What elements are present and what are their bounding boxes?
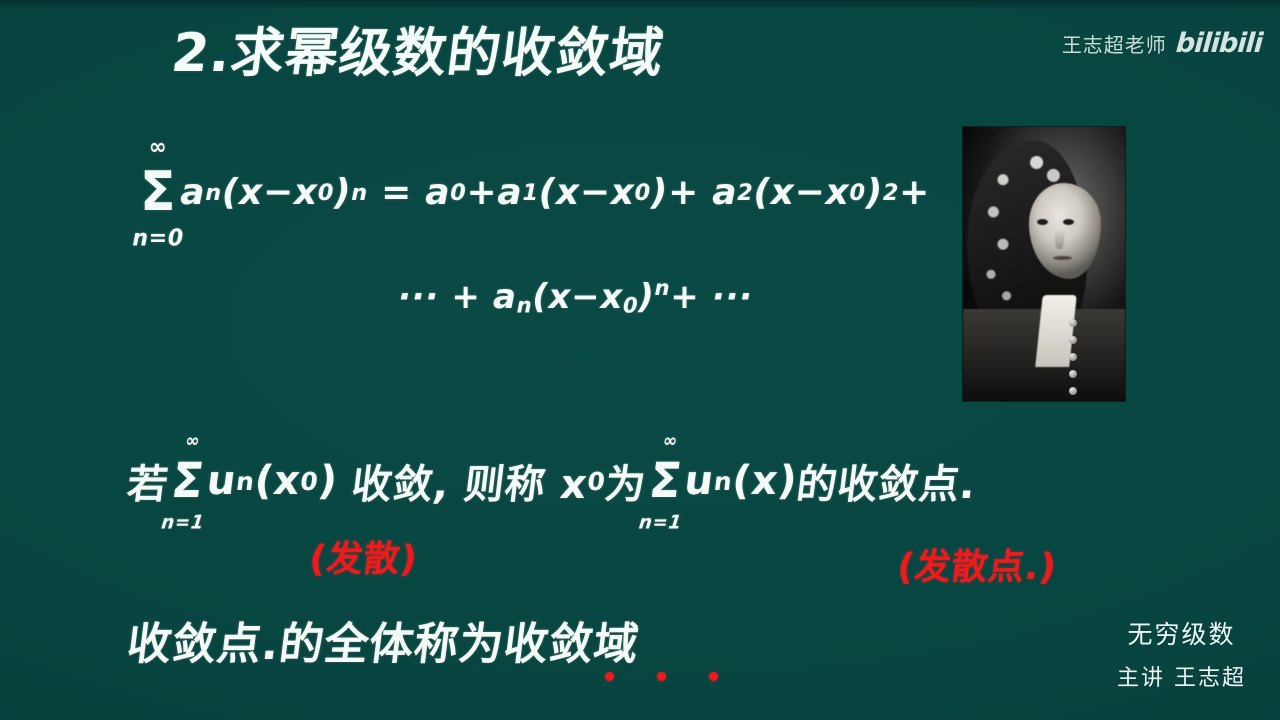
sigma3-glyph: Σ — [646, 452, 685, 509]
nth-term-exponent: n — [655, 275, 671, 300]
second-order-x0-sub: 0 — [849, 180, 865, 206]
sigma3-upper-limit: ∞ — [662, 433, 679, 450]
summation-icon-3: ∞ Σ n=1 — [647, 458, 685, 504]
course-title: 无穷级数 — [1117, 615, 1246, 651]
convergence-point-definition: 若 ∞ Σ n=1 un(x0) 收敛, 则称 x0为 ∞ Σ n=1 un(x… — [124, 452, 980, 510]
page-title: 2.求幂级数的收敛域 — [169, 26, 667, 82]
second-order-exponent: 2 — [883, 180, 899, 206]
nth-term-open: (x−x — [532, 277, 623, 317]
annotation-diverge-point: (发散点.) — [895, 538, 1060, 590]
term-u-x-arg: (x) — [730, 458, 800, 504]
term-close-paren: ) — [334, 172, 351, 213]
tail-plus: + — [670, 277, 699, 317]
x0-subscript: 0 — [318, 180, 334, 206]
converges-label: 收敛, — [349, 452, 454, 510]
sigma2-glyph: Σ — [168, 452, 207, 509]
term-u-arg-open: (x — [252, 458, 303, 504]
sigma-lower-limit: n=0 — [132, 228, 184, 250]
second-order-close: ) — [866, 172, 883, 213]
plus-a1: +a — [467, 172, 523, 213]
watermark: 王志超老师 bilibili — [1062, 28, 1262, 59]
first-order-x0-sub: 0 — [635, 180, 651, 206]
a0-subscript: 0 — [450, 180, 466, 206]
power-series-formula-line-2: ··· + an(x−x0)n+ ··· — [398, 275, 753, 318]
sigma3-lower-limit: n=1 — [638, 513, 683, 531]
then-call-label: 则称 x — [461, 452, 591, 510]
leading-ellipsis: ··· — [398, 277, 439, 317]
definition-tail: 的收敛点. — [794, 452, 980, 510]
term-exponent-n: n — [351, 180, 368, 206]
nth-term-plus: + a — [451, 277, 516, 317]
power-series-formula-line-1: ∞ Σ n=0 an(x−x0)n = a0+a1(x−x0)+ a2(x−x0… — [140, 168, 930, 217]
annotation-diverge: (发散) — [307, 530, 421, 582]
second-order-term: (x−x — [753, 172, 849, 213]
trailing-ellipsis: ··· — [712, 277, 753, 317]
watermark-author-label: 王志超老师 — [1062, 29, 1167, 58]
a2-subscript: 2 — [737, 180, 753, 206]
sigma-glyph: Σ — [140, 160, 176, 223]
trailing-plus: + — [899, 172, 930, 213]
nth-term-close: ) — [638, 277, 654, 317]
term-u-x: u — [682, 458, 717, 504]
first-order-close-plus-a2: )+ a — [651, 172, 737, 213]
term-u-arg-close: ) — [316, 458, 341, 504]
term-u: u — [204, 458, 239, 504]
then-call-tail: 为 — [602, 452, 650, 510]
convergence-domain-statement: 收敛点.的全体称为收敛域 — [124, 608, 643, 672]
emphasis-dot — [605, 672, 614, 681]
coefficient-index-n: n — [205, 180, 222, 206]
summation-icon-2: ∞ Σ n=1 — [169, 458, 207, 504]
lecture-board-screenshot: 2.求幂级数的收敛域 王志超老师 bilibili ∞ Σ n=0 an(x−x… — [0, 0, 1280, 720]
term-open-paren: (x−x — [222, 172, 318, 213]
bilibili-logo-icon: bilibili — [1175, 28, 1263, 59]
summation-icon: ∞ Σ n=0 — [140, 167, 176, 219]
mathematician-portrait — [963, 127, 1125, 401]
sigma2-lower-limit: n=1 — [160, 513, 205, 531]
coefficient-a: a — [180, 172, 205, 213]
emphasis-dot — [709, 672, 718, 681]
emphasis-dot — [657, 672, 666, 681]
a1-subscript: 1 — [522, 180, 538, 206]
first-order-term: (x−x — [539, 172, 635, 213]
course-caption: 无穷级数 主讲 王志超 — [1117, 615, 1246, 692]
sigma-upper-limit: ∞ — [149, 137, 167, 158]
equals-a0: = a — [381, 172, 450, 213]
nth-term-x0-sub: 0 — [623, 293, 638, 318]
nth-coefficient-index: n — [517, 293, 533, 318]
top-edge-strip — [0, 0, 1280, 7]
portrait-film-grain — [963, 127, 1125, 401]
red-emphasis-dots — [605, 672, 718, 681]
lecturer-name: 主讲 王志超 — [1117, 660, 1246, 692]
sigma2-upper-limit: ∞ — [184, 433, 201, 450]
definition-lead: 若 — [124, 452, 172, 510]
